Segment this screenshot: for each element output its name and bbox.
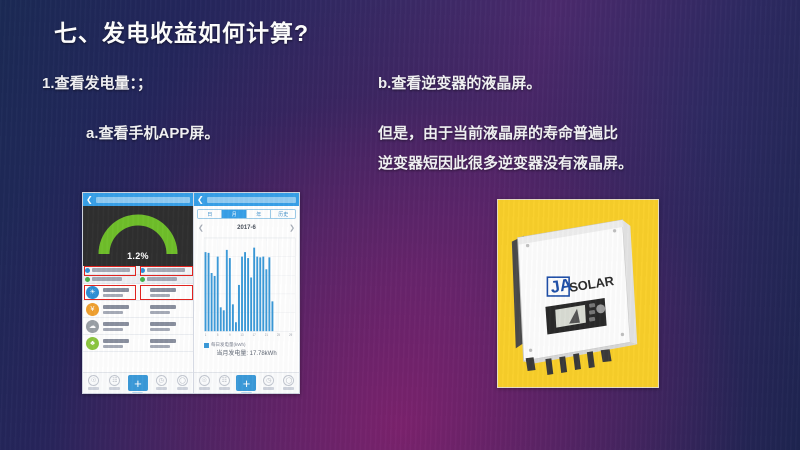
tab-history[interactable]: 历史 (271, 210, 295, 218)
date-label: 2017-6 (237, 225, 256, 231)
phone-app-screenshots: ❮ 1.2% (82, 192, 300, 394)
list-item[interactable]: ☀ (83, 284, 193, 301)
gauge-percent-label: 1.2% (127, 251, 149, 261)
tab-year[interactable]: 年 (247, 210, 272, 218)
co2-icon: ☁ (86, 320, 99, 333)
phone-screen-chart: ❮ 日 月 年 历史 ❮ 2017-6 ❯ 025050075010001250… (194, 193, 299, 393)
nav-item-stats[interactable]: ☷ (106, 375, 124, 390)
tree-icon: ♣ (86, 337, 99, 350)
nav-item-add[interactable]: + (235, 375, 257, 393)
body-line-b: b.查看逆变器的液晶屏。 (378, 72, 541, 93)
status-icon (140, 268, 145, 273)
svg-text:9: 9 (229, 333, 231, 337)
app-title-right (207, 197, 296, 203)
monthly-total-label: 当月发电量: 17.78kWh (194, 349, 299, 360)
body-line-b2: 但是，由于当前液晶屏的寿命普遍比 (378, 122, 618, 143)
period-tabs: 日 月 年 历史 (197, 209, 296, 219)
stat-cell-total-capacity (83, 277, 138, 282)
list-item[interactable]: ☁ (83, 318, 193, 335)
stat-cell-capacity (83, 268, 138, 273)
metrics-list: ☀ ¥ ☁ ♣ (83, 284, 193, 352)
bottom-navigation-right: ☉ ☷ + ◷ ◯ (194, 372, 299, 393)
panel-icon (85, 277, 90, 282)
power-gauge: 1.2% (83, 206, 193, 266)
profile-icon: ◯ (177, 375, 188, 386)
chart-icon: ☷ (109, 375, 120, 386)
nav-item-stats[interactable]: ☷ (215, 375, 233, 390)
home-icon: ☉ (199, 375, 210, 386)
daily-energy-bar-chart: 0250500750100012501591317212529 (194, 233, 299, 341)
stat-commission-date-value (147, 277, 177, 281)
app-header-left: ❮ (83, 193, 193, 206)
chart-legend: 每日发电量(kWh) (194, 341, 299, 349)
nav-item-home[interactable]: ☉ (85, 375, 103, 390)
plus-icon: + (236, 375, 256, 391)
home-icon: ☉ (88, 375, 99, 386)
stat-status-value (147, 268, 185, 272)
stat-cell-commission-date (138, 277, 193, 282)
gauge-arc-icon (96, 212, 180, 256)
stat-total-capacity-value (92, 277, 122, 281)
nav-item-home[interactable]: ☉ (195, 375, 213, 390)
app-header-right: ❮ (194, 193, 299, 206)
stat-capacity-value (92, 268, 130, 272)
metric-today-co2 (103, 322, 146, 331)
svg-text:13: 13 (240, 333, 243, 337)
nav-item-history[interactable]: ◷ (260, 375, 278, 390)
clock-icon: ◷ (263, 375, 274, 386)
bar-chart-svg: 0250500750100012501591317212529 (204, 235, 297, 341)
profile-icon: ◯ (283, 375, 294, 386)
tab-month[interactable]: 月 (222, 210, 247, 218)
metric-total-trees (150, 339, 193, 348)
phone-screen-overview: ❮ 1.2% (83, 193, 194, 393)
page-title: 七、发电收益如何计算? (54, 14, 309, 48)
nav-item-profile[interactable]: ◯ (280, 375, 298, 390)
stat-cell-status (138, 268, 193, 273)
svg-text:29: 29 (289, 333, 292, 337)
app-title-left (96, 197, 190, 203)
svg-text:1: 1 (205, 333, 207, 337)
bottom-navigation-left: ☉ ☷ + ◷ ◯ (83, 372, 193, 393)
metric-today-income (103, 305, 146, 314)
svg-text:25: 25 (277, 333, 280, 337)
body-line-1a: a.查看手机APP屏。 (86, 122, 219, 143)
metric-total-income (150, 305, 193, 314)
inverter-photo: JA SOLAR (497, 199, 659, 388)
sun-icon: ☀ (86, 286, 99, 299)
legend-label: 每日发电量(kWh) (211, 342, 246, 348)
metric-total-co2 (150, 322, 193, 331)
chevron-left-icon[interactable]: ❮ (86, 196, 93, 204)
list-item[interactable]: ♣ (83, 335, 193, 352)
svg-text:21: 21 (265, 333, 268, 337)
nav-item-add[interactable]: + (127, 375, 149, 393)
inverter-illustration: JA SOLAR (498, 200, 658, 387)
nav-item-history[interactable]: ◷ (152, 375, 170, 390)
nav-item-profile[interactable]: ◯ (173, 375, 191, 390)
plus-icon: + (128, 375, 148, 391)
clock-icon: ◷ (156, 375, 167, 386)
svg-text:5: 5 (217, 333, 219, 337)
chevron-right-icon[interactable]: ❯ (289, 224, 295, 232)
coin-icon: ¥ (86, 303, 99, 316)
stat-strip-row-2 (83, 275, 193, 284)
body-line-b3: 逆变器短因此很多逆变器没有液晶屏。 (378, 152, 633, 173)
chevron-left-icon[interactable]: ❮ (198, 224, 204, 232)
svg-text:17: 17 (253, 333, 256, 337)
tab-day[interactable]: 日 (198, 210, 223, 218)
plug-icon (85, 268, 90, 273)
body-line-1: 1.查看发电量：； (42, 72, 152, 93)
list-item[interactable]: ¥ (83, 301, 193, 318)
metric-today-energy (103, 288, 146, 297)
calendar-icon (140, 277, 145, 282)
date-navigator: ❮ 2017-6 ❯ (194, 222, 299, 233)
slide-canvas: 七、发电收益如何计算? 1.查看发电量：； a.查看手机APP屏。 b.查看逆变… (0, 0, 800, 450)
legend-swatch-icon (204, 343, 209, 348)
stat-strip-row-1 (83, 266, 193, 275)
chevron-left-icon[interactable]: ❮ (197, 196, 204, 204)
metric-total-energy (150, 288, 193, 297)
chart-icon: ☷ (219, 375, 230, 386)
metric-today-trees (103, 339, 146, 348)
